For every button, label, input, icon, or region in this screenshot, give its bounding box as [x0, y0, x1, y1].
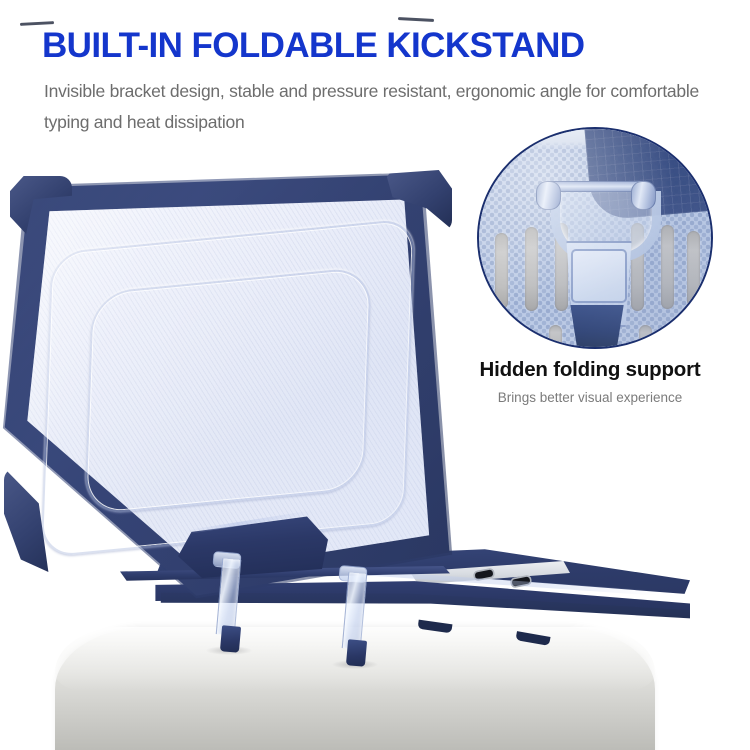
hinge-pivot-right: [631, 181, 656, 210]
vent-slot-1: [495, 233, 508, 309]
base-notch-1: [418, 620, 453, 634]
kickstand-inner-panel: [571, 249, 627, 303]
kickstand-foot-1: [220, 625, 241, 653]
callout-subtitle: Brings better visual experience: [440, 390, 740, 405]
vent-slot-2: [525, 227, 538, 311]
product-feature-image: BUILT-IN FOLDABLE KICKSTAND Invisible br…: [0, 0, 750, 750]
vent-slot-8: [639, 325, 652, 349]
kickstand-navy-foot: [568, 305, 626, 349]
vent-slot-6: [687, 231, 700, 307]
bumper-notch-top-right: [398, 17, 434, 22]
kickstand-foot-2: [346, 639, 367, 667]
kickstand-closeup-circle: [477, 127, 713, 349]
callout-title: Hidden folding support: [440, 358, 740, 382]
vent-slot-7: [549, 325, 562, 349]
vent-slot-5: [661, 225, 674, 309]
embossed-ridge-inner: [84, 266, 372, 516]
page-title: BUILT-IN FOLDABLE KICKSTAND: [42, 28, 722, 65]
hinge-pivot-left: [536, 181, 561, 210]
callout-circle-wrapper: [477, 127, 713, 349]
